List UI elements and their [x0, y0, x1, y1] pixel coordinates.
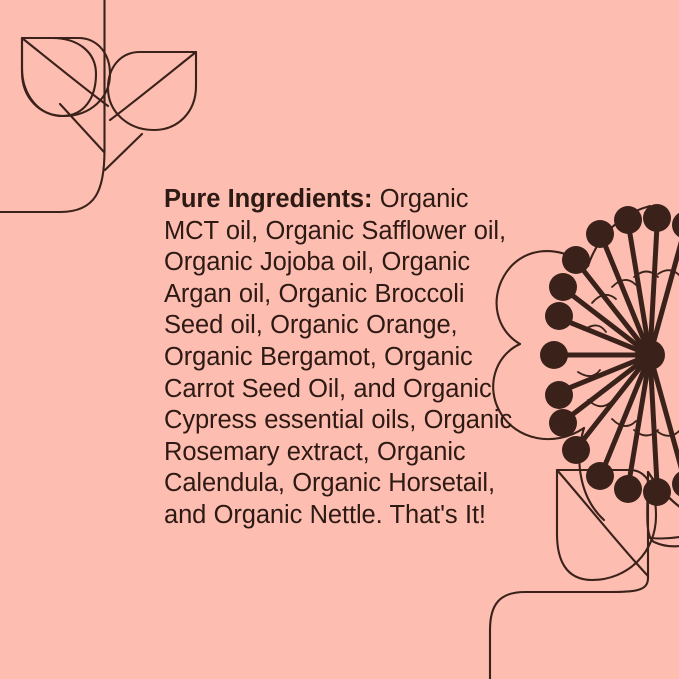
ingredients-body: Organic MCT oil, Organic Safflower oil, …: [164, 185, 512, 529]
ingredients-heading: Pure Ingredients:: [164, 185, 372, 213]
sprig-stem-bottom-curve: [490, 578, 648, 679]
flower-center: [635, 340, 665, 370]
leaf-midrib-right: [110, 52, 196, 120]
sprig-stem-top-left: [0, 0, 105, 212]
ingredients-panel: Pure Ingredients: Organic MCT oil, Organ…: [0, 0, 679, 679]
leaf-sprig-top-left: [0, 0, 110, 212]
leaf-right-top: [105, 52, 196, 170]
ingredients-text: Pure Ingredients: Organic MCT oil, Organ…: [164, 184, 526, 532]
leaf-branch-right: [105, 134, 142, 170]
leaf-branch-left: [60, 104, 104, 152]
